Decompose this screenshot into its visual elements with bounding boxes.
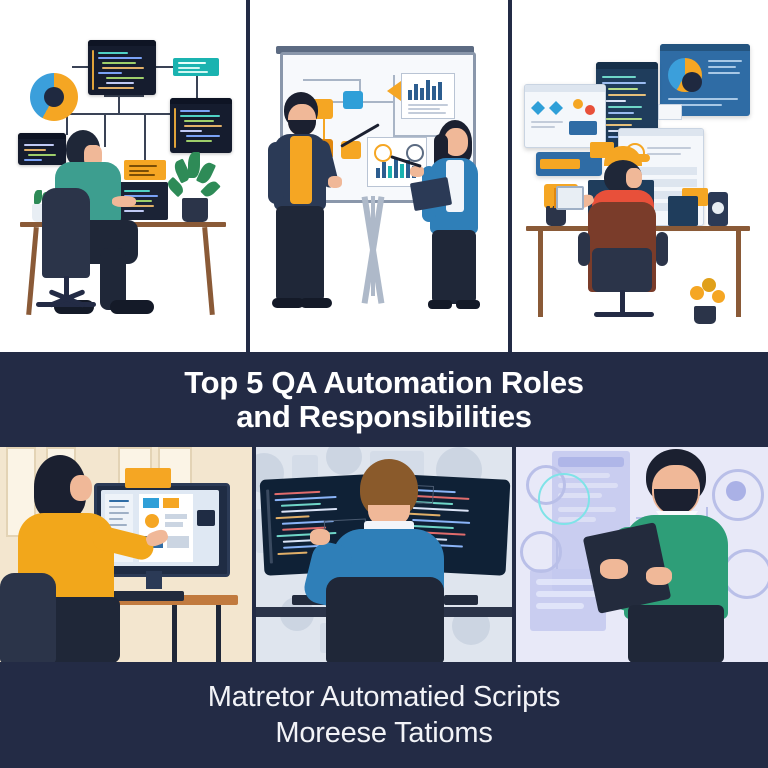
- panel-4-analyst-dashboard: [0, 447, 252, 662]
- dashboard-window-graphic: [524, 84, 606, 148]
- panel-6-tester-with-tablet: [516, 447, 768, 662]
- code-window-graphic: [18, 133, 66, 165]
- code-window-graphic: [170, 98, 232, 153]
- infographic-canvas: Top 5 QA Automation Roles and Responsibi…: [0, 0, 768, 768]
- title-line-2: and Responsibilities: [236, 400, 531, 434]
- panel-2-whiteboard-presentation: [250, 0, 508, 352]
- title-line-1: Top 5 QA Automation Roles: [184, 366, 584, 400]
- panel-5-developer-dual-monitors: [256, 447, 512, 662]
- panel-3-developer-multiscreen: [512, 0, 768, 352]
- panel-1-developer-flowchart: [0, 0, 246, 352]
- teal-callout-graphic: [173, 58, 219, 76]
- donut-chart-graphic: [30, 73, 78, 121]
- orange-callout-graphic: [124, 160, 166, 180]
- caption-line-1: Matretor Automatied Scripts: [208, 679, 560, 715]
- title-banner: Top 5 QA Automation Roles and Responsibi…: [0, 352, 768, 447]
- panel-row-bottom: [0, 447, 768, 662]
- caption-banner: Matretor Automatied Scripts Moreese Tati…: [0, 662, 768, 768]
- caption-line-2: Moreese Tatioms: [275, 715, 492, 751]
- panel-row-top: [0, 0, 768, 352]
- code-window-graphic: [88, 40, 156, 95]
